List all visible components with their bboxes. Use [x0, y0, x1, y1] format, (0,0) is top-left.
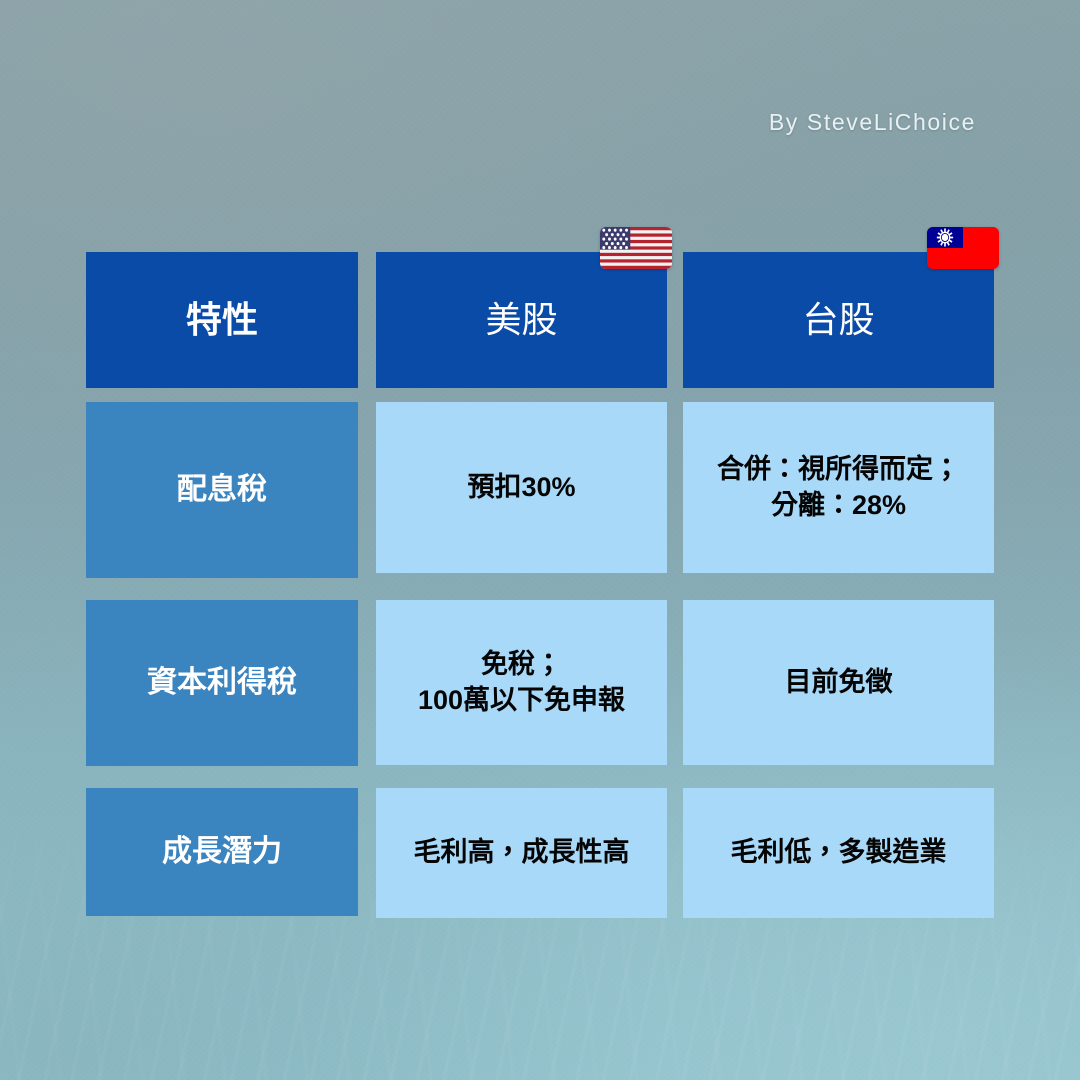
cell-text: 免稅； 100萬以下免申報: [418, 647, 625, 718]
us-flag-icon: [600, 227, 672, 269]
cell-text: 資本利得稅: [147, 663, 297, 703]
cell-text: 預扣30%: [467, 470, 575, 506]
header-label-feature: 特性: [186, 296, 258, 344]
table-row: 成長潛力 毛利高，成長性高 毛利低，多製造業: [86, 788, 994, 918]
cell-text: 配息稅: [177, 470, 267, 510]
cell-tw-capital-gains-tax: 目前免徵: [683, 600, 994, 765]
cell-tw-dividend-tax: 合併：視所得而定； 分離：28%: [683, 402, 994, 573]
cell-text: 成長潛力: [162, 832, 282, 872]
row-label-dividend-tax: 配息稅: [86, 402, 358, 578]
cell-us-growth-potential: 毛利高，成長性高: [376, 788, 667, 918]
table-row: 配息稅 預扣30% 合併：視所得而定； 分離：28%: [86, 402, 994, 578]
cell-text: 合併：視所得而定； 分離：28%: [717, 452, 960, 523]
cell-text: 目前免徵: [785, 665, 893, 701]
header-cell-tw-stocks: 台股: [683, 252, 994, 388]
cell-text: 毛利低，多製造業: [731, 835, 947, 871]
cell-us-dividend-tax: 預扣30%: [376, 402, 667, 573]
header-label-us-stocks: 美股: [485, 296, 557, 344]
poster-canvas: By SteveLiChoice 特性 美股: [0, 0, 1080, 1080]
row-label-growth-potential: 成長潛力: [86, 788, 358, 916]
header-label-tw-stocks: 台股: [802, 296, 874, 344]
cell-text: 毛利高，成長性高: [414, 835, 630, 871]
comparison-table: 特性 美股: [86, 252, 994, 918]
header-cell-us-stocks: 美股: [376, 252, 667, 388]
cell-us-capital-gains-tax: 免稅； 100萬以下免申報: [376, 600, 667, 765]
row-label-capital-gains-tax: 資本利得稅: [86, 600, 358, 766]
table-header-row: 特性 美股: [86, 252, 994, 388]
tw-flag-icon: [927, 227, 999, 269]
watermark-credit: By SteveLiChoice: [769, 109, 976, 136]
table-row: 資本利得稅 免稅； 100萬以下免申報 目前免徵: [86, 600, 994, 766]
cell-tw-growth-potential: 毛利低，多製造業: [683, 788, 994, 918]
header-cell-feature: 特性: [86, 252, 358, 388]
